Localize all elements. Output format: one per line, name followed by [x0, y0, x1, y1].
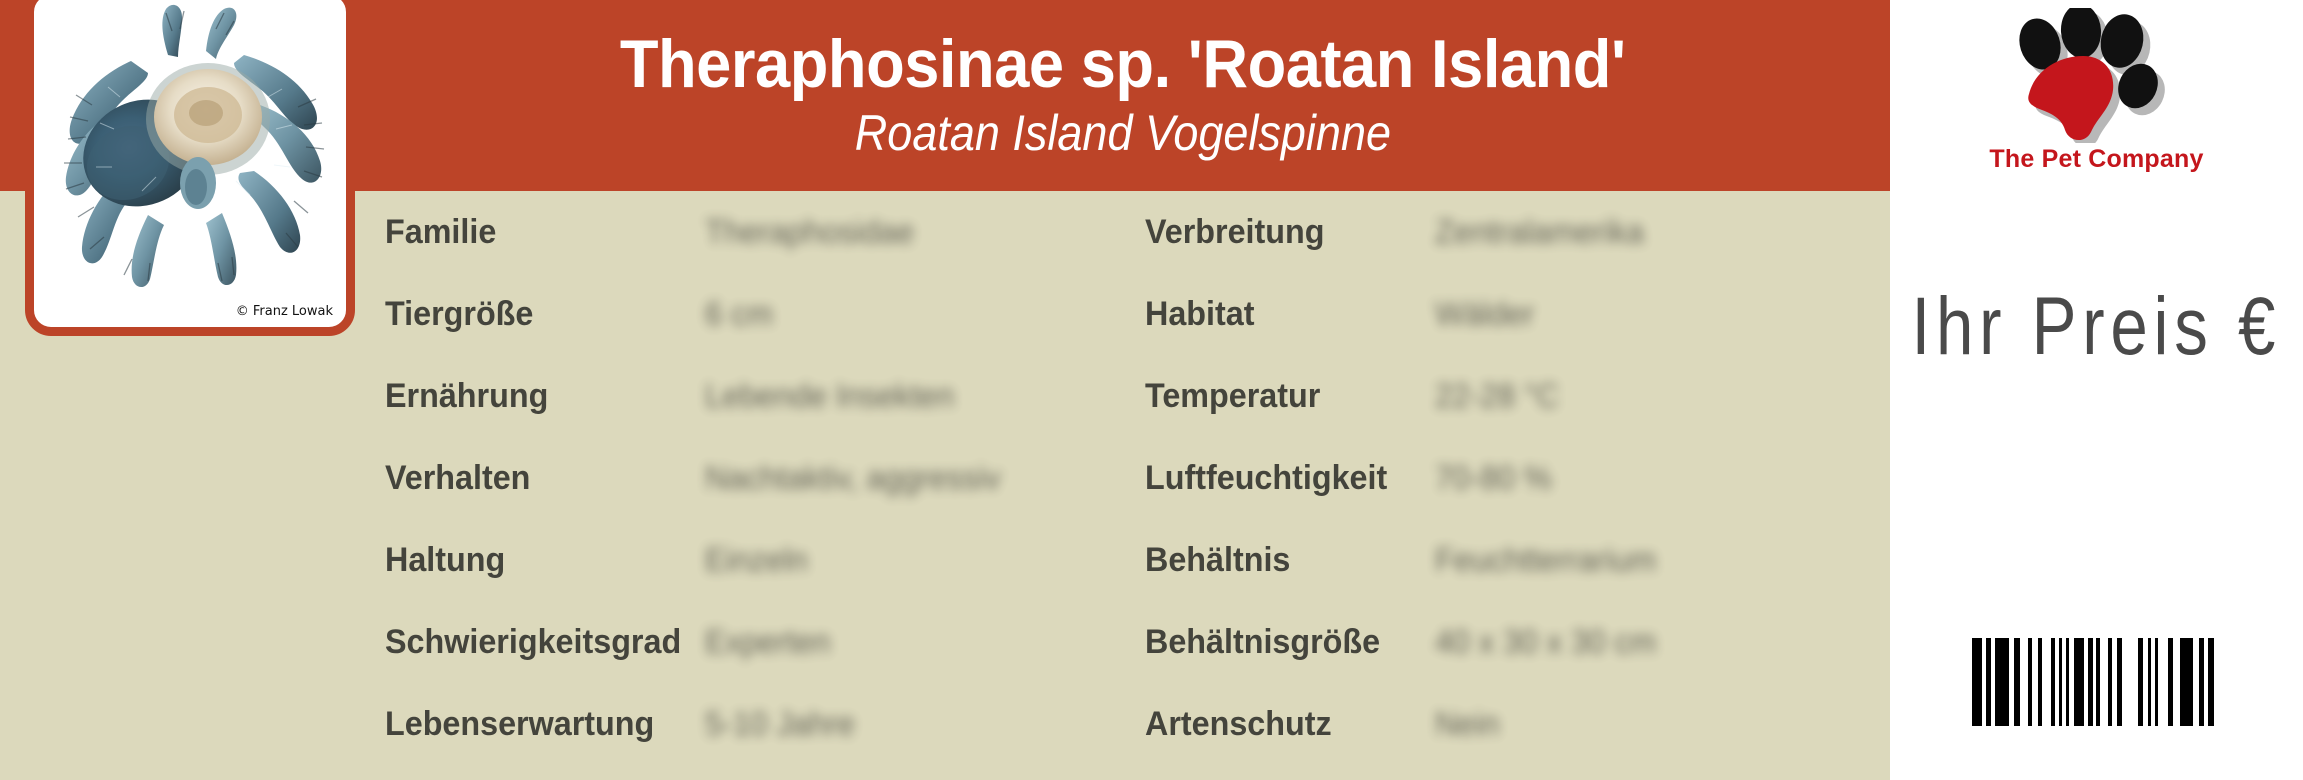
attr-label-verhalten: Verhalten: [385, 459, 689, 498]
attributes-column-right: Verbreitung Zentralamerika Habitat Wälde…: [1145, 191, 1890, 780]
header-text-block: Theraphosinae sp. 'Roatan Island' Roatan…: [355, 0, 1890, 191]
price-panel: The Pet Company Ihr Preis €: [1890, 0, 2303, 780]
species-info-sheet: Theraphosinae sp. 'Roatan Island' Roatan…: [0, 0, 1890, 780]
attr-value-verhalten: Nachtaktiv, aggressiv: [705, 459, 1001, 497]
table-row: Verbreitung Zentralamerika: [1145, 191, 1890, 273]
attr-label-habitat: Habitat: [1145, 295, 1421, 334]
price-label: Ihr Preis €: [1912, 280, 2282, 374]
attr-value-behaeltnis: Feuchtterrarium: [1435, 541, 1656, 579]
attr-value-lebenserwartung: 5-10 Jahre: [705, 705, 855, 743]
attr-value-behaeltnisgroesse: 40 x 30 x 30 cm: [1435, 623, 1656, 661]
barcode-bar: [1995, 638, 2009, 726]
barcode-space: [2122, 638, 2138, 726]
attr-value-ernaehrung: Lebende Insekten: [705, 377, 954, 415]
table-row: Ernährung Lebende Insekten: [385, 355, 1145, 437]
barcode-space: [2214, 638, 2222, 726]
table-row: Artenschutz Nein: [1145, 683, 1890, 765]
attr-value-familie: Theraphosidae: [705, 213, 914, 251]
attr-value-verbreitung: Zentralamerika: [1435, 213, 1644, 251]
table-row: Luftfeuchtigkeit 70-80 %: [1145, 437, 1890, 519]
attr-label-lebenserwartung: Lebenserwartung: [385, 705, 689, 744]
attr-label-artenschutz: Artenschutz: [1145, 705, 1421, 744]
attr-label-tiergroesse: Tiergröße: [385, 295, 689, 334]
attr-value-temperatur: 22-28 °C: [1435, 377, 1559, 415]
attr-value-habitat: Wälder: [1435, 295, 1534, 333]
attr-label-ernaehrung: Ernährung: [385, 377, 689, 416]
product-label-card: Theraphosinae sp. 'Roatan Island' Roatan…: [0, 0, 2303, 780]
barcode: [1890, 638, 2303, 726]
barcode-space: [2020, 638, 2028, 726]
attributes-table: Familie Theraphosidae Tiergröße 6 cm Ern…: [0, 191, 1890, 780]
table-row: Behältnisgröße 40 x 30 x 30 cm: [1145, 601, 1890, 683]
attr-label-verbreitung: Verbreitung: [1145, 213, 1421, 252]
barcode-bar: [2074, 638, 2084, 726]
table-row: Haltung Einzeln: [385, 519, 1145, 601]
attr-value-artenschutz: Nein: [1435, 705, 1499, 743]
barcode-space: [2158, 638, 2168, 726]
attr-label-behaeltnis: Behältnis: [1145, 541, 1421, 580]
attr-value-tiergroesse: 6 cm: [705, 295, 773, 333]
table-row: Temperatur 22-28 °C: [1145, 355, 1890, 437]
attr-label-temperatur: Temperatur: [1145, 377, 1421, 416]
attributes-column-left: Familie Theraphosidae Tiergröße 6 cm Ern…: [385, 191, 1145, 780]
barcode-bar: [1972, 638, 1982, 726]
barcode-bar: [2180, 638, 2193, 726]
table-row: Tiergröße 6 cm: [385, 273, 1145, 355]
attr-label-schwierigkeitsgrad: Schwierigkeitsgrad: [385, 623, 689, 662]
barcode-space: [2100, 638, 2108, 726]
table-row: Lebenserwartung 5-10 Jahre: [385, 683, 1145, 765]
price-label-row: Ihr Preis €: [1890, 272, 2303, 382]
attr-label-haltung: Haltung: [385, 541, 689, 580]
attr-value-haltung: Einzeln: [705, 541, 808, 579]
table-row: Behältnis Feuchtterrarium: [1145, 519, 1890, 601]
page-title: Theraphosinae sp. 'Roatan Island': [620, 30, 1626, 98]
barcode-space: [2042, 638, 2051, 726]
attr-label-familie: Familie: [385, 213, 689, 252]
attr-value-luftfeuchtigkeit: 70-80 %: [1435, 459, 1552, 497]
brand-logo: The Pet Company: [1890, 8, 2303, 208]
table-row: Familie Theraphosidae: [385, 191, 1145, 273]
table-row: Schwierigkeitsgrad Experten: [385, 601, 1145, 683]
barcode-space: [2173, 638, 2180, 726]
table-row: Verhalten Nachtaktiv, aggressiv: [385, 437, 1145, 519]
attr-value-schwierigkeitsgrad: Experten: [705, 623, 830, 661]
table-row: Habitat Wälder: [1145, 273, 1890, 355]
paw-print-icon: [1997, 8, 2197, 143]
page-subtitle: Roatan Island Vogelspinne: [854, 108, 1390, 158]
attr-label-luftfeuchtigkeit: Luftfeuchtigkeit: [1145, 459, 1421, 498]
brand-wordmark: The Pet Company: [1989, 145, 2203, 174]
attr-label-behaeltnisgroesse: Behältnisgröße: [1145, 623, 1421, 662]
